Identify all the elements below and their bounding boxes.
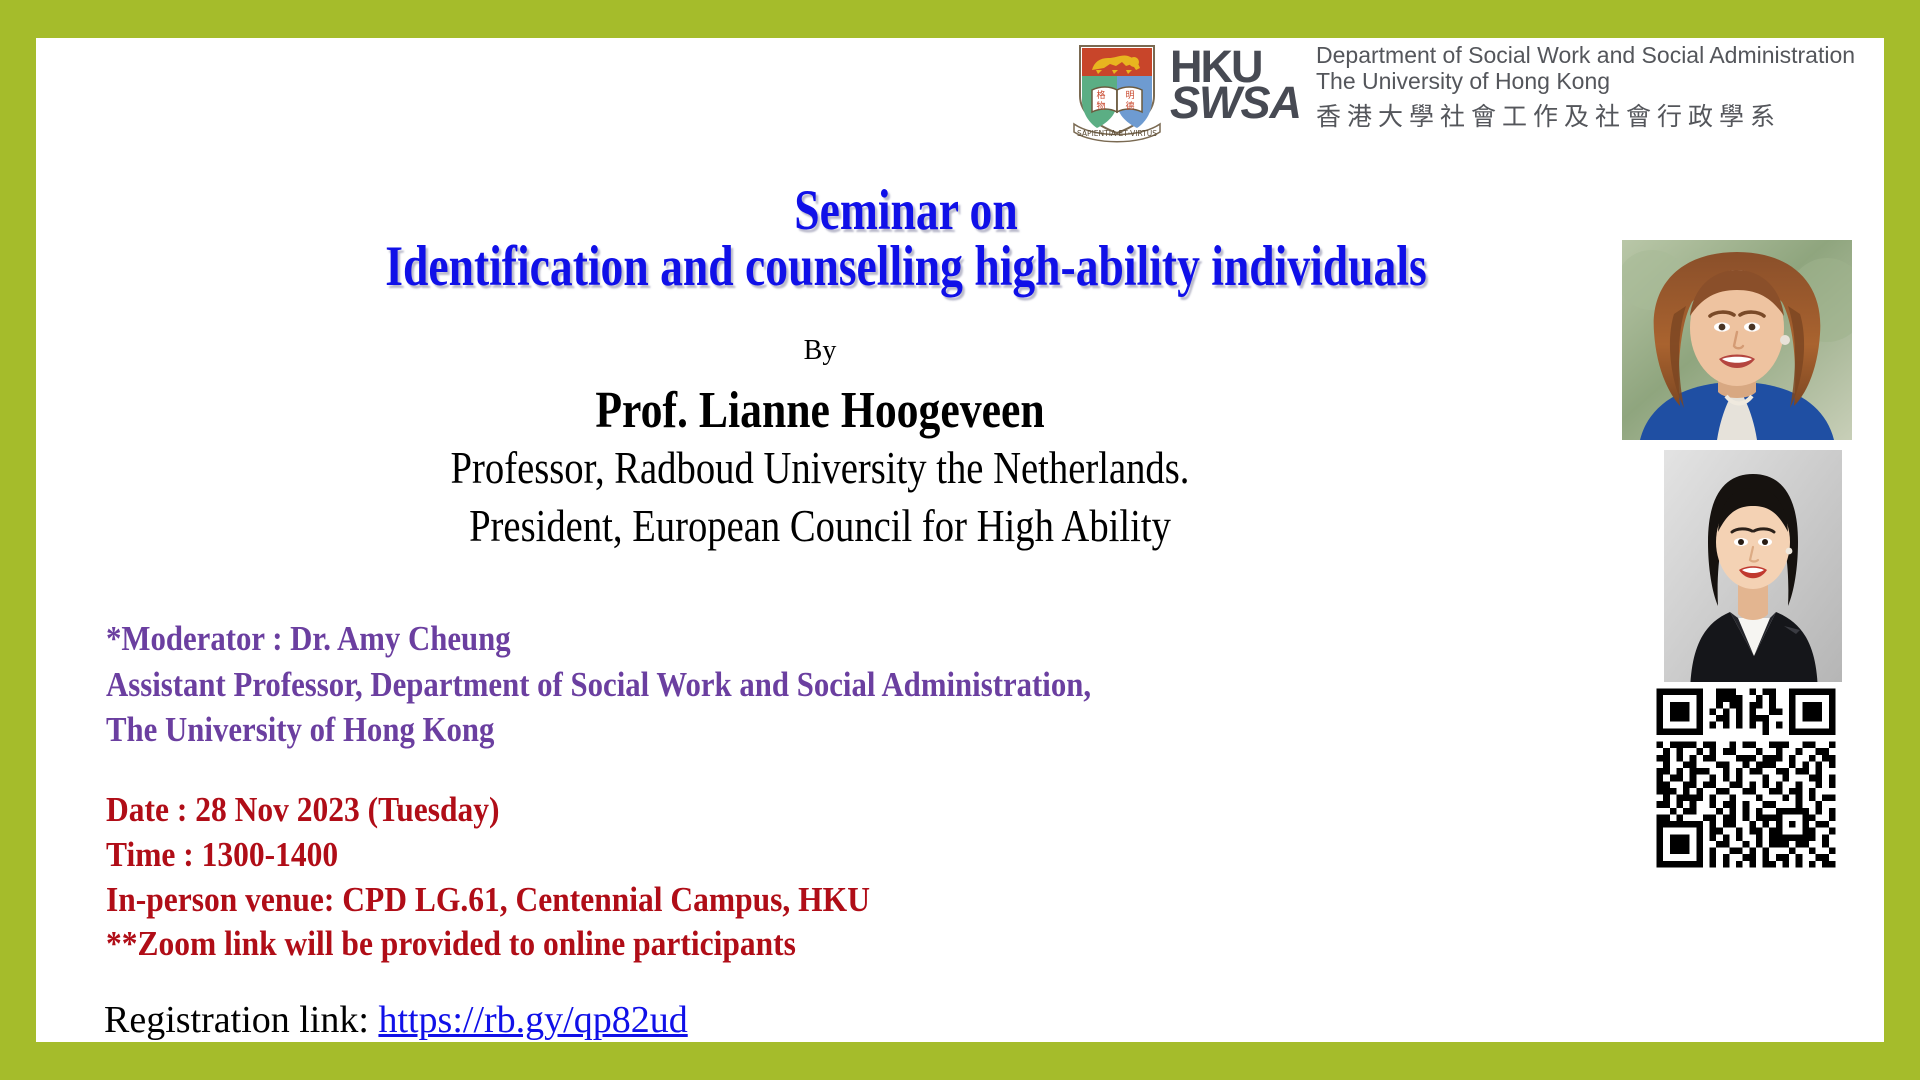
poster-canvas: 格 物 明 德 SAPIENTIA·ET·VIRTUS HKU SWSA Dep… (36, 38, 1884, 1042)
event-zoom-note: **Zoom link will be provided to online p… (106, 922, 870, 967)
moderator-block: *Moderator : Dr. Amy Cheung Assistant Pr… (106, 616, 1091, 753)
department-en-line2: The University of Hong Kong (1316, 68, 1884, 94)
seminar-poster: 格 物 明 德 SAPIENTIA·ET·VIRTUS HKU SWSA Dep… (0, 0, 1920, 1080)
event-details-block: Date : 28 Nov 2023 (Tuesday) Time : 1300… (106, 788, 870, 967)
by-label: By (36, 335, 1604, 367)
event-time: Time : 1300-1400 (106, 833, 870, 878)
svg-text:格: 格 (1096, 89, 1105, 101)
seminar-title-line2: Identification and counselling high-abil… (210, 234, 1602, 299)
registration-line: Registration link: https://rb.gy/qp82ud (104, 998, 688, 1042)
wordmark-swsa: SWSA (1170, 80, 1302, 125)
event-date: Date : 28 Nov 2023 (Tuesday) (106, 788, 870, 833)
department-zh-line: 香港大學社會工作及社會行政學系 (1316, 97, 1884, 133)
speaker-role-line2: President, European Council for High Abi… (161, 499, 1478, 552)
department-name-block: Department of Social Work and Social Adm… (1316, 42, 1884, 133)
moderator-line1: *Moderator : Dr. Amy Cheung (106, 616, 1091, 662)
moderator-line3: The University of Hong Kong (106, 707, 1091, 753)
speaker-name: Prof. Lianne Hoogeveen (161, 381, 1478, 440)
svg-text:物: 物 (1096, 100, 1105, 112)
svg-text:明: 明 (1125, 90, 1134, 101)
speaker-photo (1622, 240, 1852, 440)
hku-crest-icon: 格 物 明 德 SAPIENTIA·ET·VIRTUS (1072, 40, 1162, 145)
event-venue: In-person venue: CPD LG.61, Centennial C… (106, 878, 870, 923)
registration-label: Registration link: (104, 999, 369, 1041)
crest-motto-text: SAPIENTIA·ET·VIRTUS (1077, 129, 1157, 138)
department-en-line1: Department of Social Work and Social Adm… (1316, 42, 1884, 68)
registration-link[interactable]: https://rb.gy/qp82ud (378, 999, 687, 1041)
svg-text:德: 德 (1125, 100, 1134, 112)
moderator-photo (1664, 450, 1842, 698)
qr-code-registration[interactable] (1650, 682, 1842, 874)
hku-swsa-wordmark: HKU SWSA (1170, 44, 1302, 125)
header-logo-block: 格 物 明 德 SAPIENTIA·ET·VIRTUS HKU SWSA Dep… (1064, 38, 1884, 150)
moderator-line2: Assistant Professor, Department of Socia… (106, 662, 1091, 708)
speaker-role-line1: Professor, Radboud University the Nether… (161, 441, 1478, 494)
